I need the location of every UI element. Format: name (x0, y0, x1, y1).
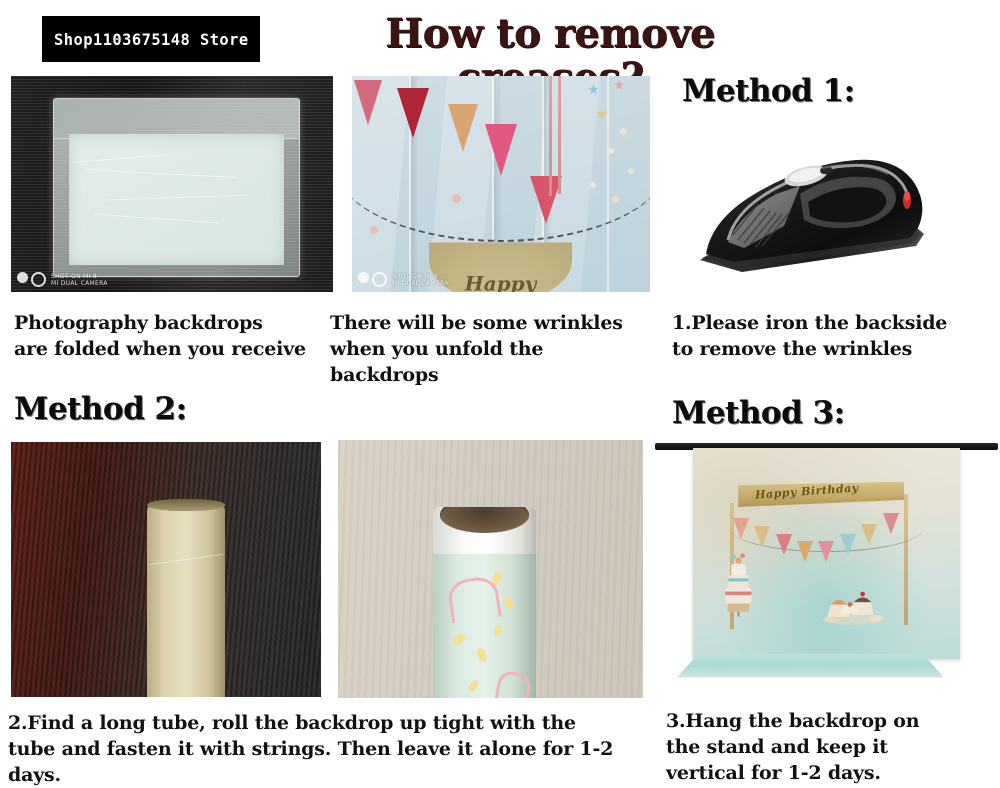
bunting-flag (776, 534, 792, 555)
method-1-heading: Method 1: (682, 74, 855, 108)
tube-seam (149, 554, 223, 565)
method-2-heading: Method 2: (14, 392, 187, 426)
cupcakes-illustration (818, 579, 888, 625)
bunting-flag (818, 541, 834, 562)
watermark-line-1: SHOT ON MI 8 (392, 273, 438, 280)
happy-birthday-text: Happy Birthday (754, 481, 858, 501)
happy-birthday-banner: Happy Birthday (738, 482, 904, 507)
mi-camera-icon (17, 272, 46, 287)
bunting-flag (883, 513, 899, 534)
caption-method-3: 3.Hang the backdrop on the stand and kee… (666, 708, 996, 786)
bunting-flag (733, 518, 749, 539)
bag-flap (54, 99, 299, 139)
caption-method-2: 2.Find a long tube, roll the backdrop up… (8, 710, 648, 788)
photo-hanging-backdrop: Happy Birthday (655, 443, 998, 688)
bunting-flag (754, 526, 770, 547)
camera-watermark: SHOT ON MI 8 MI DUAL CAMERA (358, 272, 449, 287)
bunting-flag (485, 124, 517, 176)
bunting-flag (840, 534, 856, 555)
plastic-bag (53, 98, 300, 277)
photo-folded-backdrop-in-bag: SHOT ON MI 8 MI DUAL CAMERA (11, 76, 333, 292)
bunting-flag (797, 541, 813, 562)
bunting-flag (354, 80, 382, 125)
rolled-backdrop-tube (433, 507, 537, 698)
tube-rim (147, 499, 225, 511)
bunting-flag (397, 88, 429, 138)
watermark-line-2: MI DUAL CAMERA (51, 280, 108, 287)
photo-clothes-iron (672, 122, 972, 294)
photo-unfolded-wrinkled-backdrop: Happy SHOT ON MI 8 MI DUAL CAMERA (352, 76, 650, 292)
mi-camera-icon (358, 272, 387, 287)
infographic-page: Shop1103675148 Store How to remove creas… (0, 0, 1000, 786)
folded-cloth (69, 134, 284, 265)
caption-photo-2: There will be some wrinkles when you unf… (330, 310, 656, 388)
photo-rolled-backdrop-on-tube (338, 440, 643, 698)
camera-watermark: SHOT ON MI 8 MI DUAL CAMERA (17, 272, 108, 287)
watermark-text: SHOT ON MI 8 MI DUAL CAMERA (51, 273, 108, 287)
watermark-line-2: MI DUAL CAMERA (392, 280, 449, 287)
iron-icon (672, 122, 972, 294)
caption-photo-1: Photography backdrops are folded when yo… (14, 310, 324, 362)
backdrop-printed-banner: Happy (429, 242, 572, 292)
shop-name-badge: Shop1103675148 Store (42, 16, 260, 62)
bunting-flag (448, 104, 478, 152)
watermark-line-1: SHOT ON MI 8 (51, 273, 97, 280)
cardboard-tube (147, 503, 225, 697)
backdrop-printed-text: Happy (429, 272, 572, 292)
watermark-text: SHOT ON MI 8 MI DUAL CAMERA (392, 273, 449, 287)
backdrop-floor-fold (677, 654, 943, 677)
birthday-cake-illustration (717, 545, 760, 617)
method-3-heading: Method 3: (672, 396, 845, 430)
hanging-backdrop-cloth: Happy Birthday (693, 448, 961, 659)
bunting-flag (861, 524, 877, 545)
photo-cardboard-tube (11, 442, 321, 697)
caption-method-1: 1.Please iron the backside to remove the… (672, 310, 992, 362)
shop-name-text: Shop1103675148 Store (54, 30, 249, 49)
